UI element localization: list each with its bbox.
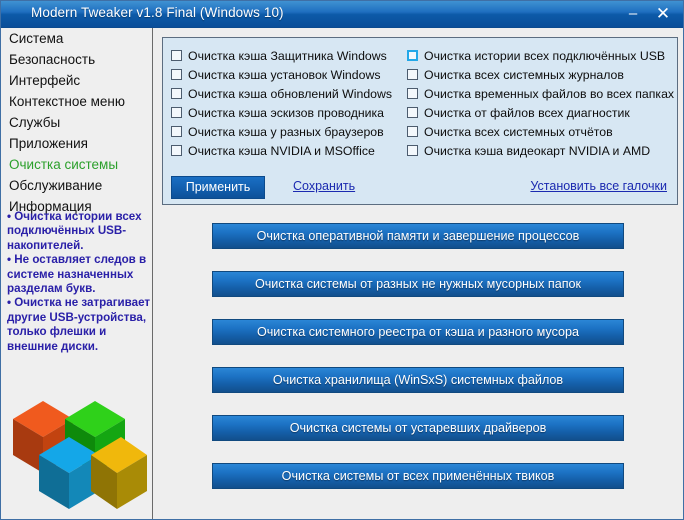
checkbox-icon[interactable]: [171, 145, 182, 156]
option-row[interactable]: Очистка кэша установок Windows: [171, 65, 409, 84]
sidebar: СистемаБезопасностьИнтерфейсКонтекстное …: [1, 28, 153, 519]
cubes-logo: [5, 389, 151, 517]
action-button-4[interactable]: Очистка системы от устаревших драйверов: [212, 415, 624, 441]
check-all-link[interactable]: Установить все галочки: [530, 179, 667, 193]
checkbox-icon[interactable]: [407, 145, 418, 156]
option-row[interactable]: Очистка кэша Защитника Windows: [171, 46, 409, 65]
sidebar-item-7[interactable]: Обслуживание: [1, 175, 152, 196]
option-label: Очистка кэша у разных браузеров: [188, 125, 384, 139]
close-icon[interactable]: ✕: [651, 3, 675, 25]
apply-button[interactable]: Применить: [171, 176, 265, 199]
sidebar-item-3[interactable]: Контекстное меню: [1, 91, 152, 112]
option-label: Очистка кэша установок Windows: [188, 68, 380, 82]
option-label: Очистка кэша эскизов проводника: [188, 106, 384, 120]
title-bar: Modern Tweaker v1.8 Final (Windows 10) –…: [1, 1, 683, 28]
minimize-icon[interactable]: –: [621, 3, 645, 25]
action-button-0[interactable]: Очистка оперативной памяти и завершение …: [212, 223, 624, 249]
option-label: Очистка кэша NVIDIA и MSOffice: [188, 144, 375, 158]
sidebar-item-6[interactable]: Очистка системы: [1, 154, 152, 175]
checkbox-icon[interactable]: [407, 107, 418, 118]
option-label: Очистка всех системных журналов: [424, 68, 624, 82]
option-row[interactable]: Очистка временных файлов во всех папках: [407, 84, 675, 103]
option-row[interactable]: Очистка кэша видеокарт NVIDIA и AMD: [407, 141, 675, 160]
save-link[interactable]: Сохранить: [293, 179, 355, 193]
checkbox-icon[interactable]: [171, 69, 182, 80]
sidebar-nav: СистемаБезопасностьИнтерфейсКонтекстное …: [1, 28, 152, 217]
option-row[interactable]: Очистка кэша у разных браузеров: [171, 122, 409, 141]
option-label: Очистка от файлов всех диагностик: [424, 106, 630, 120]
option-row[interactable]: Очистка от файлов всех диагностик: [407, 103, 675, 122]
description-line: • Очистка истории всех подключённых USB-…: [7, 210, 151, 253]
checkbox-icon[interactable]: [171, 88, 182, 99]
option-row[interactable]: Очистка кэша эскизов проводника: [171, 103, 409, 122]
checkbox-icon[interactable]: [407, 126, 418, 137]
sidebar-item-5[interactable]: Приложения: [1, 133, 152, 154]
sidebar-item-1[interactable]: Безопасность: [1, 49, 152, 70]
checkbox-icon[interactable]: [171, 107, 182, 118]
cleanup-options-panel: Очистка кэша Защитника WindowsОчистка кэ…: [162, 37, 678, 205]
option-row[interactable]: Очистка кэша обновлений Windows: [171, 84, 409, 103]
action-button-5[interactable]: Очистка системы от всех применённых твик…: [212, 463, 624, 489]
window-title: Modern Tweaker v1.8 Final (Windows 10): [31, 5, 284, 20]
action-button-3[interactable]: Очистка хранилища (WinSxS) системных фай…: [212, 367, 624, 393]
checkbox-icon[interactable]: [171, 126, 182, 137]
option-row[interactable]: Очистка кэша NVIDIA и MSOffice: [171, 141, 409, 160]
option-row[interactable]: Очистка всех системных отчётов: [407, 122, 675, 141]
checkbox-icon[interactable]: [407, 69, 418, 80]
option-row[interactable]: Очистка всех системных журналов: [407, 65, 675, 84]
option-label: Очистка кэша Защитника Windows: [188, 49, 387, 63]
sidebar-item-4[interactable]: Службы: [1, 112, 152, 133]
application-window: Modern Tweaker v1.8 Final (Windows 10) –…: [0, 0, 684, 520]
options-column-right: Очистка истории всех подключённых USBОчи…: [407, 46, 675, 160]
checkbox-icon[interactable]: [171, 50, 182, 61]
description-line: • Очистка не затрагивает другие USB-устр…: [7, 296, 151, 354]
option-label: Очистка истории всех подключённых USB: [424, 49, 665, 63]
option-label: Очистка временных файлов во всех папках: [424, 87, 674, 101]
checkbox-icon[interactable]: [407, 88, 418, 99]
checkbox-icon[interactable]: [407, 50, 418, 61]
sidebar-description: • Очистка истории всех подключённых USB-…: [7, 210, 151, 354]
action-buttons-list: Очистка оперативной памяти и завершение …: [162, 215, 678, 515]
option-label: Очистка всех системных отчётов: [424, 125, 613, 139]
description-line: • Не оставляет следов в системе назначен…: [7, 253, 151, 296]
action-button-2[interactable]: Очистка системного реестра от кэша и раз…: [212, 319, 624, 345]
option-row[interactable]: Очистка истории всех подключённых USB: [407, 46, 675, 65]
options-column-left: Очистка кэша Защитника WindowsОчистка кэ…: [171, 46, 409, 160]
sidebar-item-0[interactable]: Система: [1, 28, 152, 49]
sidebar-item-2[interactable]: Интерфейс: [1, 70, 152, 91]
option-label: Очистка кэша обновлений Windows: [188, 87, 392, 101]
action-button-1[interactable]: Очистка системы от разных не нужных мусо…: [212, 271, 624, 297]
option-label: Очистка кэша видеокарт NVIDIA и AMD: [424, 144, 650, 158]
